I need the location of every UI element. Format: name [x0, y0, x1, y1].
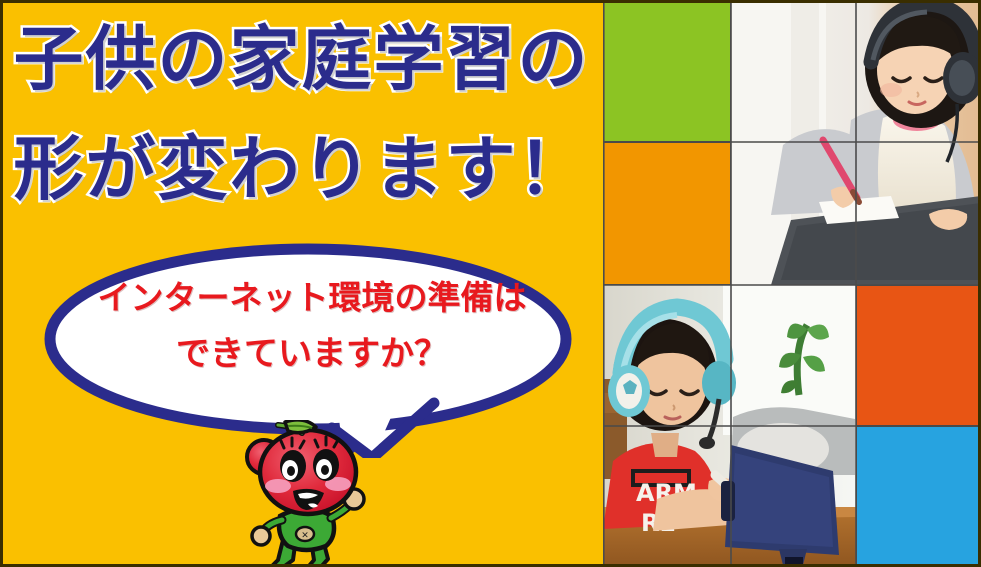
poster-canvas: 子供の家庭学習の 形が変わります！ インターネット環境の準備は できていますか？ [0, 0, 981, 567]
mascot-illustration: ✕ [238, 420, 378, 567]
mascot-left-cheek [265, 479, 291, 493]
grid-cell-orange-swatch [603, 142, 731, 285]
cherry-tomato-mascot: ✕ [238, 420, 378, 567]
left-text-panel: 子供の家庭学習の 形が変わります！ インターネット環境の準備は できていますか？ [0, 0, 603, 567]
photo-grid: ARM RE [603, 0, 981, 567]
bubble-line-2: できていますか？ [42, 326, 582, 383]
mascot-left-eye [280, 438, 306, 482]
headline-line-1: 子供の家庭学習の [0, 16, 603, 102]
grid-cell-orange-red-swatch [856, 285, 981, 426]
grid-cell-cyan-swatch [856, 426, 981, 567]
mascot-right-eye [313, 437, 339, 481]
girl-with-headphones-illustration [731, 0, 981, 285]
svg-text:✕: ✕ [301, 531, 309, 541]
grid-photo-girl-studying [731, 0, 981, 285]
grid-photo-boy-tablet: ARM RE [603, 285, 856, 567]
boy-with-headphones-illustration: ARM RE [603, 285, 856, 567]
bubble-line-1: インターネット環境の準備は [42, 269, 582, 326]
mascot-left-hand [252, 527, 270, 545]
speech-bubble-text: インターネット環境の準備は できていますか？ [42, 269, 582, 383]
headline-line-2: 形が変わります！ [0, 126, 603, 212]
grid-cell-green-swatch [603, 0, 731, 142]
